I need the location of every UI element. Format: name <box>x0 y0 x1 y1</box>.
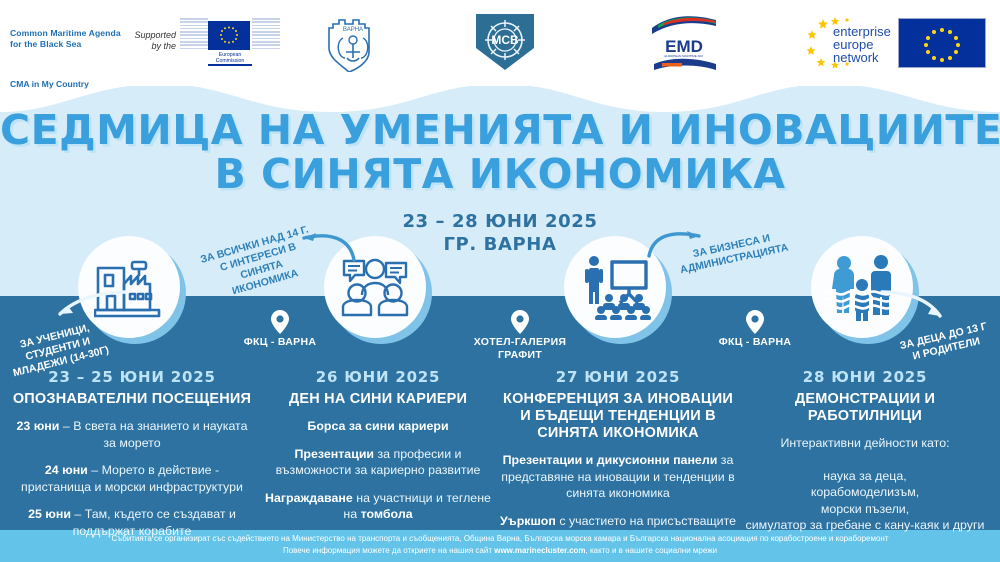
varna-municipality-logo: ВАРНА <box>325 14 381 72</box>
ec-fan-right-icon <box>252 18 280 52</box>
venue-3-label: ФКЦ - ВАРНА <box>680 336 830 349</box>
column-3-date: 27 ЮНИ 2025 <box>498 368 738 386</box>
column-1-item-1: 23 юни – В света на знанието и науката з… <box>12 418 252 451</box>
poster-title: СЕДМИЦА НА УМЕНИЯТА И ИНОВАЦИИТЕ В СИНЯТ… <box>0 108 1000 196</box>
poster-canvas: Common Maritime Agenda for the Black Sea… <box>0 0 1000 562</box>
column-3-heading: КОНФЕРЕНЦИЯ ЗА ИНОВАЦИИ И БЪДЕЩИ ТЕНДЕНЦ… <box>498 391 738 442</box>
arrow-students <box>50 288 130 324</box>
column-2-item-2: Презентации за професии и възможности за… <box>258 446 498 479</box>
mcb-label: MCB <box>491 33 519 47</box>
emd-logo: EMD EUROPEAN MARITIME DAY IN MY COUNTRY <box>648 12 720 72</box>
ec-fan-left-icon <box>180 18 208 52</box>
ec-label: European Commission <box>208 52 252 64</box>
arrow-kids <box>880 290 950 326</box>
supported-by-text: Supported by the <box>128 30 176 52</box>
cma-line-2: for the Black Sea <box>10 39 130 50</box>
footer-line-2: Повече информация можете да откриете на … <box>0 545 1000 557</box>
column-1-heading: ОПОЗНАВАТЕЛНИ ПОСЕЩЕНИЯ <box>12 391 252 408</box>
location-pin-icon <box>271 310 289 334</box>
mcb-logo: MCB <box>470 12 540 72</box>
venue-3: ФКЦ - ВАРНА <box>680 310 830 349</box>
venue-2-label-line-1: ХОТЕЛ-ГАЛЕРИЯ <box>445 336 595 349</box>
website-link[interactable]: www.marinecluster.com <box>494 546 585 555</box>
column-4-intro: Интерактивни дейности като: <box>745 435 985 452</box>
ec-underline <box>208 64 252 66</box>
column-4-item-2: корабомоделизъм, <box>745 484 985 501</box>
cma-line-1: Common Maritime Agenda <box>10 28 130 39</box>
column-2-body: Борса за сини кариери Презентации за про… <box>258 418 498 523</box>
emd-sub-1: EUROPEAN MARITIME DAY <box>664 54 703 58</box>
column-4-heading: ДЕМОНСТРАЦИИ И РАБОТИЛНИЦИ <box>745 391 985 425</box>
title-line-1: СЕДМИЦА НА УМЕНИЯТА И ИНОВАЦИИТЕ <box>0 108 1000 152</box>
column-1-body: 23 юни – В света на знанието и науката з… <box>12 418 252 539</box>
european-commission-logo: European Commission <box>180 18 272 66</box>
column-1-item-2: 24 юни – Морето в действие - пристанища … <box>12 462 252 495</box>
een-line-3: network <box>833 50 879 65</box>
column-demonstrations: 28 ЮНИ 2025 ДЕМОНСТРАЦИИ И РАБОТИЛНИЦИ И… <box>745 236 985 534</box>
event-dates: 23 – 28 ЮНИ 2025 <box>0 210 1000 233</box>
enterprise-europe-network-logo: enterprise europe network <box>805 16 895 68</box>
footer-text: Събитията се организират със съдействиет… <box>0 533 1000 556</box>
column-2-item-1: Борса за сини кариери <box>258 418 498 435</box>
column-3-body: Презентации и дикусионни панели за предс… <box>498 452 738 529</box>
venue-2: ХОТЕЛ-ГАЛЕРИЯ ГРАФИТ <box>445 310 595 361</box>
column-4-item-4: симулатор за гребане с кану-каяк и други <box>745 517 985 534</box>
venue-2-label-line-2: ГРАФИТ <box>445 349 595 362</box>
column-2-heading: ДЕН НА СИНИ КАРИЕРИ <box>258 391 498 408</box>
title-line-2: В СИНЯТА ИКОНОМИКА <box>0 152 1000 196</box>
column-3-item-1: Презентации и дикусионни панели за предс… <box>498 452 738 502</box>
column-4-item-3: морски пъзели, <box>745 501 985 518</box>
column-2-date: 26 ЮНИ 2025 <box>258 368 498 386</box>
location-pin-icon <box>511 310 529 334</box>
venue-1: ФКЦ - ВАРНА <box>205 310 355 349</box>
venue-1-label: ФКЦ - ВАРНА <box>205 336 355 349</box>
column-2-item-3: Награждаване на участници и теглене на т… <box>258 490 498 523</box>
column-4-body: Интерактивни дейности като: наука за дец… <box>745 435 985 534</box>
eu-flag-small <box>208 21 250 50</box>
footer-line-1: Събитията се организират със съдействиет… <box>0 533 1000 545</box>
column-conference: 27 ЮНИ 2025 КОНФЕРЕНЦИЯ ЗА ИНОВАЦИИ И БЪ… <box>498 236 738 540</box>
logo-bar: Common Maritime Agenda for the Black Sea… <box>0 0 1000 86</box>
column-4-item-1: наука за деца, <box>745 468 985 485</box>
cma-subtitle: CMA in My Country <box>10 79 89 89</box>
eu-flag-logo <box>898 18 986 68</box>
varna-crest-label: ВАРНА <box>343 27 363 33</box>
cma-logo: Common Maritime Agenda for the Black Sea <box>10 28 130 50</box>
location-pin-icon <box>746 310 764 334</box>
column-4-date: 28 ЮНИ 2025 <box>745 368 985 386</box>
column-3-item-2: Уъркшоп с участието на присъстващите <box>498 513 738 530</box>
